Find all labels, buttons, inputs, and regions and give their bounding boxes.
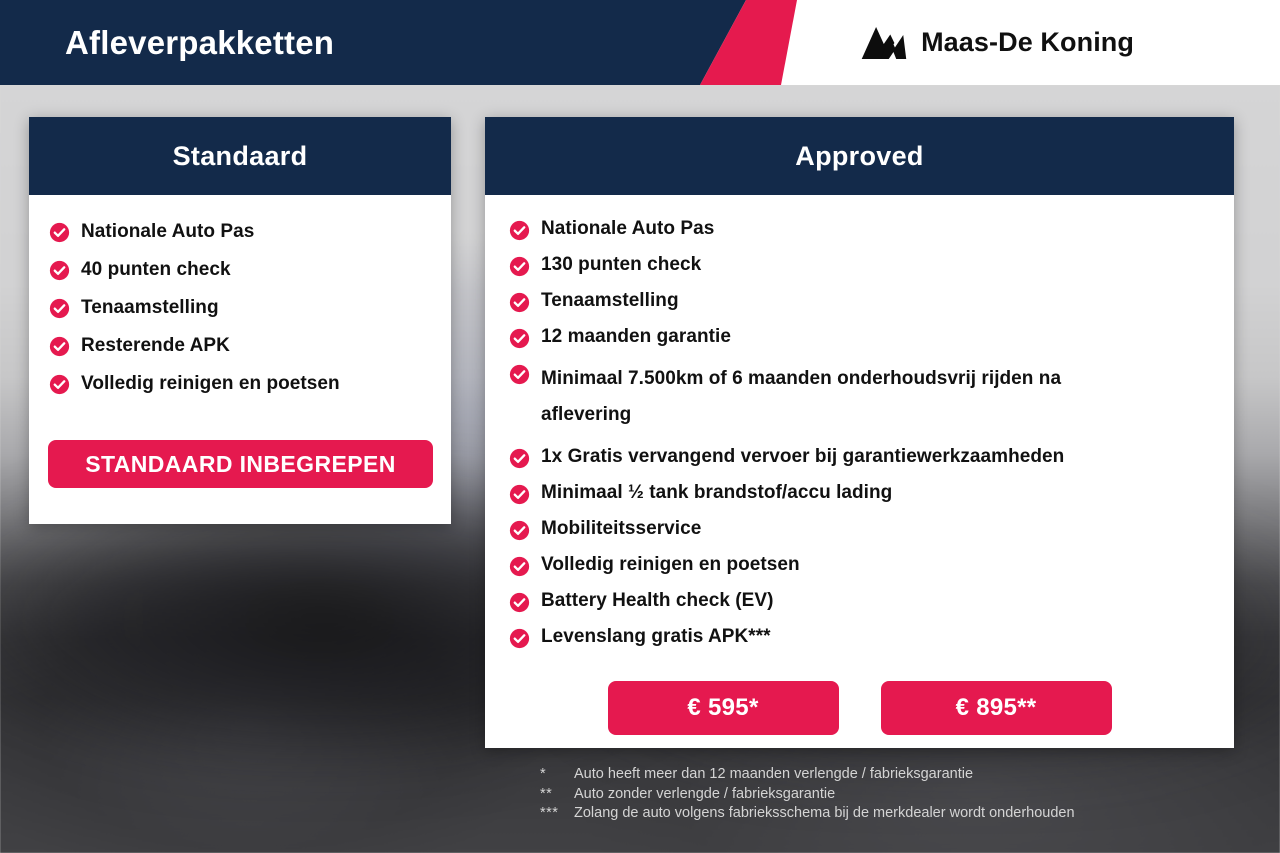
list-item: Volledig reinigen en poetsen — [509, 553, 1234, 577]
feature-label: Volledig reinigen en poetsen — [541, 553, 800, 577]
feature-label: Minimaal 7.500km of 6 maanden onderhouds… — [541, 361, 1109, 433]
price-button-row: € 595* € 895** — [485, 681, 1234, 735]
check-circle-icon — [49, 298, 70, 319]
check-circle-icon — [509, 220, 530, 241]
list-item: 40 punten check — [49, 257, 451, 282]
check-circle-icon — [509, 592, 530, 613]
footnotes: * Auto heeft meer dan 12 maanden verleng… — [540, 765, 1240, 824]
footnote-1: * Auto heeft meer dan 12 maanden verleng… — [540, 765, 1240, 785]
card-title-standaard: Standaard — [173, 141, 308, 172]
feature-list-standaard: Nationale Auto Pas 40 punten check Tenaa… — [49, 219, 451, 396]
list-item: Minimaal 7.500km of 6 maanden onderhouds… — [509, 361, 1109, 433]
check-circle-icon — [49, 374, 70, 395]
delivery-packages-page: Afleverpakketten Maas-De Koning Standaar… — [0, 0, 1280, 853]
page-header: Afleverpakketten Maas-De Koning — [0, 0, 1280, 85]
card-header-standaard: Standaard — [29, 117, 451, 195]
check-circle-icon — [509, 448, 530, 469]
check-circle-icon — [49, 260, 70, 281]
feature-label: Nationale Auto Pas — [541, 217, 714, 241]
feature-label: Mobiliteitsservice — [541, 517, 701, 541]
card-title-approved: Approved — [795, 141, 923, 172]
check-circle-icon — [509, 628, 530, 649]
price-button-595[interactable]: € 595* — [608, 681, 839, 735]
card-body-standaard: Nationale Auto Pas 40 punten check Tenaa… — [29, 219, 451, 396]
check-circle-icon — [509, 328, 530, 349]
list-item: Battery Health check (EV) — [509, 589, 1234, 613]
feature-label: 40 punten check — [81, 257, 231, 282]
list-item: 12 maanden garantie — [509, 325, 1234, 349]
list-item: Nationale Auto Pas — [509, 217, 1234, 241]
package-card-approved: Approved Nationale Auto Pas 130 punten c — [485, 117, 1234, 748]
feature-label: 12 maanden garantie — [541, 325, 731, 349]
footnote-3: *** Zolang de auto volgens fabrieksschem… — [540, 804, 1240, 824]
brand-name: Maas-De Koning — [921, 27, 1134, 58]
list-item: 130 punten check — [509, 253, 1234, 277]
footnote-text: Auto zonder verlengde / fabrieksgarantie — [574, 785, 1240, 805]
maas-de-koning-m-mark-icon — [859, 23, 907, 63]
list-item: Nationale Auto Pas — [49, 219, 451, 244]
feature-label: Volledig reinigen en poetsen — [81, 371, 340, 396]
brand-logo: Maas-De Koning — [859, 0, 1134, 85]
list-item: Minimaal ½ tank brandstof/accu lading — [509, 481, 1234, 505]
check-circle-icon — [509, 484, 530, 505]
feature-label: Resterende APK — [81, 333, 230, 358]
feature-label: 1x Gratis vervangend vervoer bij garanti… — [541, 445, 1064, 469]
feature-label: Levenslang gratis APK*** — [541, 625, 771, 649]
card-header-approved: Approved — [485, 117, 1234, 195]
check-circle-icon — [509, 556, 530, 577]
feature-list-approved: Nationale Auto Pas 130 punten check Tena… — [509, 217, 1234, 649]
list-item: Resterende APK — [49, 333, 451, 358]
feature-label: Nationale Auto Pas — [81, 219, 254, 244]
feature-label: 130 punten check — [541, 253, 701, 277]
check-circle-icon — [509, 364, 530, 385]
list-item: Volledig reinigen en poetsen — [49, 371, 451, 396]
list-item: 1x Gratis vervangend vervoer bij garanti… — [509, 445, 1234, 469]
footnote-text: Auto heeft meer dan 12 maanden verlengde… — [574, 765, 1240, 785]
standaard-included-button[interactable]: STANDAARD INBEGREPEN — [48, 440, 433, 488]
page-title: Afleverpakketten — [65, 0, 334, 85]
footnote-marker: * — [540, 765, 574, 785]
list-item: Tenaamstelling — [509, 289, 1234, 313]
footnote-text: Zolang de auto volgens fabrieksschema bi… — [574, 804, 1240, 824]
check-circle-icon — [509, 256, 530, 277]
list-item: Levenslang gratis APK*** — [509, 625, 1234, 649]
feature-label: Tenaamstelling — [541, 289, 679, 313]
list-item: Tenaamstelling — [49, 295, 451, 320]
price-button-895[interactable]: € 895** — [881, 681, 1112, 735]
feature-label: Minimaal ½ tank brandstof/accu lading — [541, 481, 892, 505]
footnote-marker: *** — [540, 804, 574, 824]
footnote-2: ** Auto zonder verlengde / fabrieksgaran… — [540, 785, 1240, 805]
check-circle-icon — [49, 336, 70, 357]
feature-label: Tenaamstelling — [81, 295, 219, 320]
check-circle-icon — [509, 520, 530, 541]
footnote-marker: ** — [540, 785, 574, 805]
check-circle-icon — [49, 222, 70, 243]
card-body-approved: Nationale Auto Pas 130 punten check Tena… — [485, 217, 1234, 649]
check-circle-icon — [509, 292, 530, 313]
list-item: Mobiliteitsservice — [509, 517, 1234, 541]
feature-label: Battery Health check (EV) — [541, 589, 774, 613]
